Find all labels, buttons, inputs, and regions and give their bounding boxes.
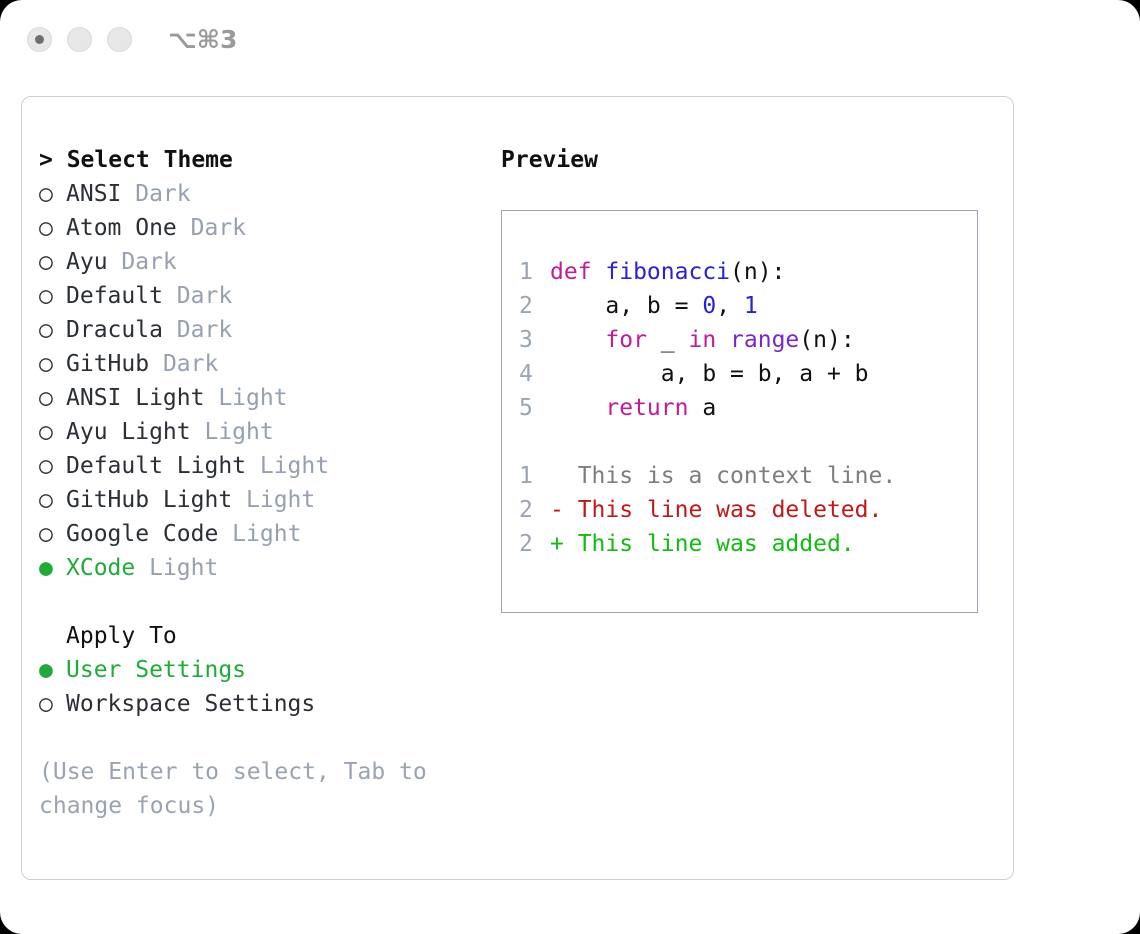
theme-option-label: Default Light xyxy=(66,453,246,479)
theme-option-label: Atom One xyxy=(66,215,177,241)
code-token: a xyxy=(688,395,716,421)
diff-marker: - xyxy=(550,497,578,523)
diff-text: This line was deleted. xyxy=(578,497,883,523)
radio-unselected-icon: ○ xyxy=(39,415,66,449)
theme-list[interactable]: ○ANSI Dark○Atom One Dark○Ayu Dark○Defaul… xyxy=(39,177,469,585)
code-token: 1 xyxy=(744,293,758,319)
line-number: 2 xyxy=(519,493,550,527)
apply-to-option-label: Workspace Settings xyxy=(66,691,315,717)
theme-option-variant: Dark xyxy=(108,249,177,275)
theme-option-label: GitHub Light xyxy=(66,487,232,513)
line-number: 4 xyxy=(519,357,550,391)
theme-option-variant: Light xyxy=(232,487,315,513)
line-number: 2 xyxy=(519,289,550,323)
traffic-light-dot-3[interactable] xyxy=(107,27,132,52)
diff-text: This line was added. xyxy=(578,531,855,557)
code-token: _ xyxy=(647,327,689,353)
theme-option-label: XCode xyxy=(66,555,135,581)
line-number: 1 xyxy=(519,459,550,493)
code-line: 5 return a xyxy=(502,391,977,425)
theme-option-label: ANSI Light xyxy=(66,385,204,411)
diff-line: 2- This line was deleted. xyxy=(502,493,977,527)
preview-spacer xyxy=(502,425,977,459)
code-token: a, b = b, a + b xyxy=(550,361,869,387)
theme-option-label: ANSI xyxy=(66,181,121,207)
code-token: in xyxy=(688,327,730,353)
code-token: fibonacci xyxy=(605,259,730,285)
code-line: 1def fibonacci(n): xyxy=(502,255,977,289)
radio-unselected-icon: ○ xyxy=(39,381,66,415)
radio-selected-icon: ● xyxy=(39,551,66,585)
radio-unselected-icon: ○ xyxy=(39,313,66,347)
line-number: 2 xyxy=(519,527,550,561)
record-indicator-icon xyxy=(35,35,44,44)
radio-unselected-icon: ○ xyxy=(39,177,66,211)
code-token: a, b = xyxy=(550,293,702,319)
keyboard-shortcut-label: ⌥⌘3 xyxy=(168,25,237,54)
code-token: (n): xyxy=(799,327,854,353)
apply-to-option[interactable]: ●User Settings xyxy=(39,653,469,687)
theme-option-variant: Dark xyxy=(177,215,246,241)
theme-option[interactable]: ○Ayu Dark xyxy=(39,245,469,279)
theme-option-variant: Light xyxy=(204,385,287,411)
preview-column: Preview 1def fibonacci(n):2 a, b = 0, 13… xyxy=(501,143,991,613)
theme-option[interactable]: ○ANSI Light Light xyxy=(39,381,469,415)
diff-line: 1 This is a context line. xyxy=(502,459,977,493)
radio-unselected-icon: ○ xyxy=(39,347,66,381)
radio-unselected-icon: ○ xyxy=(39,211,66,245)
preview-box: 1def fibonacci(n):2 a, b = 0, 13 for _ i… xyxy=(501,210,978,613)
keyboard-hint-text: (Use Enter to select, Tab to change focu… xyxy=(39,755,444,823)
theme-option-label: Ayu Light xyxy=(66,419,191,445)
theme-option-variant: Light xyxy=(191,419,274,445)
preview-header: Preview xyxy=(501,143,991,177)
theme-option-label: GitHub xyxy=(66,351,149,377)
theme-option[interactable]: ○Default Light Light xyxy=(39,449,469,483)
radio-unselected-icon: ○ xyxy=(39,687,66,721)
diff-marker: + xyxy=(550,531,578,557)
theme-option-variant: Dark xyxy=(121,181,190,207)
theme-option[interactable]: ○Atom One Dark xyxy=(39,211,469,245)
traffic-light-dot-2[interactable] xyxy=(67,27,92,52)
code-token: def xyxy=(550,259,605,285)
apply-to-section: Apply To ●User Settings○Workspace Settin… xyxy=(39,619,469,721)
theme-option-label: Dracula xyxy=(66,317,163,343)
code-line: 4 a, b = b, a + b xyxy=(502,357,977,391)
theme-option[interactable]: ○GitHub Light Light xyxy=(39,483,469,517)
radio-unselected-icon: ○ xyxy=(39,517,66,551)
line-number: 3 xyxy=(519,323,550,357)
code-token: range xyxy=(730,327,799,353)
diff-sample: 1 This is a context line.2- This line wa… xyxy=(502,459,977,561)
theme-option-variant: Dark xyxy=(149,351,218,377)
code-sample: 1def fibonacci(n):2 a, b = 0, 13 for _ i… xyxy=(502,255,977,425)
radio-unselected-icon: ○ xyxy=(39,449,66,483)
app-window: ⌥⌘3 > Select Theme ○ANSI Dark○Atom One D… xyxy=(0,0,1140,934)
theme-selection-column: > Select Theme ○ANSI Dark○Atom One Dark○… xyxy=(39,143,469,823)
theme-option[interactable]: ○ANSI Dark xyxy=(39,177,469,211)
radio-unselected-icon: ○ xyxy=(39,279,66,313)
select-theme-header: > Select Theme xyxy=(39,143,469,177)
theme-option-label: Ayu xyxy=(66,249,108,275)
apply-to-header: Apply To xyxy=(39,619,469,653)
line-number: 1 xyxy=(519,255,550,289)
radio-selected-icon: ● xyxy=(39,653,66,687)
theme-option-variant: Light xyxy=(135,555,218,581)
theme-option[interactable]: ○Dracula Dark xyxy=(39,313,469,347)
theme-picker-dialog: > Select Theme ○ANSI Dark○Atom One Dark○… xyxy=(21,96,1014,880)
theme-option[interactable]: ○Google Code Light xyxy=(39,517,469,551)
theme-option-variant: Light xyxy=(246,453,329,479)
theme-option-variant: Dark xyxy=(163,317,232,343)
diff-line: 2+ This line was added. xyxy=(502,527,977,561)
diff-text: This is a context line. xyxy=(578,463,897,489)
code-token: 0 xyxy=(702,293,716,319)
apply-to-option-label: User Settings xyxy=(66,657,246,683)
title-bar: ⌥⌘3 xyxy=(0,0,1140,78)
radio-unselected-icon: ○ xyxy=(39,483,66,517)
theme-option-label: Default xyxy=(66,283,163,309)
code-token: return xyxy=(550,395,688,421)
theme-option-variant: Light xyxy=(218,521,301,547)
radio-unselected-icon: ○ xyxy=(39,245,66,279)
theme-option-variant: Dark xyxy=(163,283,232,309)
traffic-light-record-dot[interactable] xyxy=(27,27,52,52)
code-token: (n): xyxy=(730,259,785,285)
theme-option[interactable]: ○Ayu Light Light xyxy=(39,415,469,449)
code-token: , xyxy=(716,293,744,319)
diff-marker xyxy=(550,463,578,489)
apply-to-option[interactable]: ○Workspace Settings xyxy=(39,687,469,721)
theme-option[interactable]: ●XCode Light xyxy=(39,551,469,585)
code-token: for xyxy=(550,327,647,353)
line-number: 5 xyxy=(519,391,550,425)
dialog-body: > Select Theme ○ANSI Dark○Atom One Dark○… xyxy=(22,97,1013,879)
theme-option[interactable]: ○Default Dark xyxy=(39,279,469,313)
code-line: 3 for _ in range(n): xyxy=(502,323,977,357)
code-line: 2 a, b = 0, 1 xyxy=(502,289,977,323)
apply-to-list[interactable]: ●User Settings○Workspace Settings xyxy=(39,653,469,721)
theme-option-label: Google Code xyxy=(66,521,218,547)
theme-option[interactable]: ○GitHub Dark xyxy=(39,347,469,381)
